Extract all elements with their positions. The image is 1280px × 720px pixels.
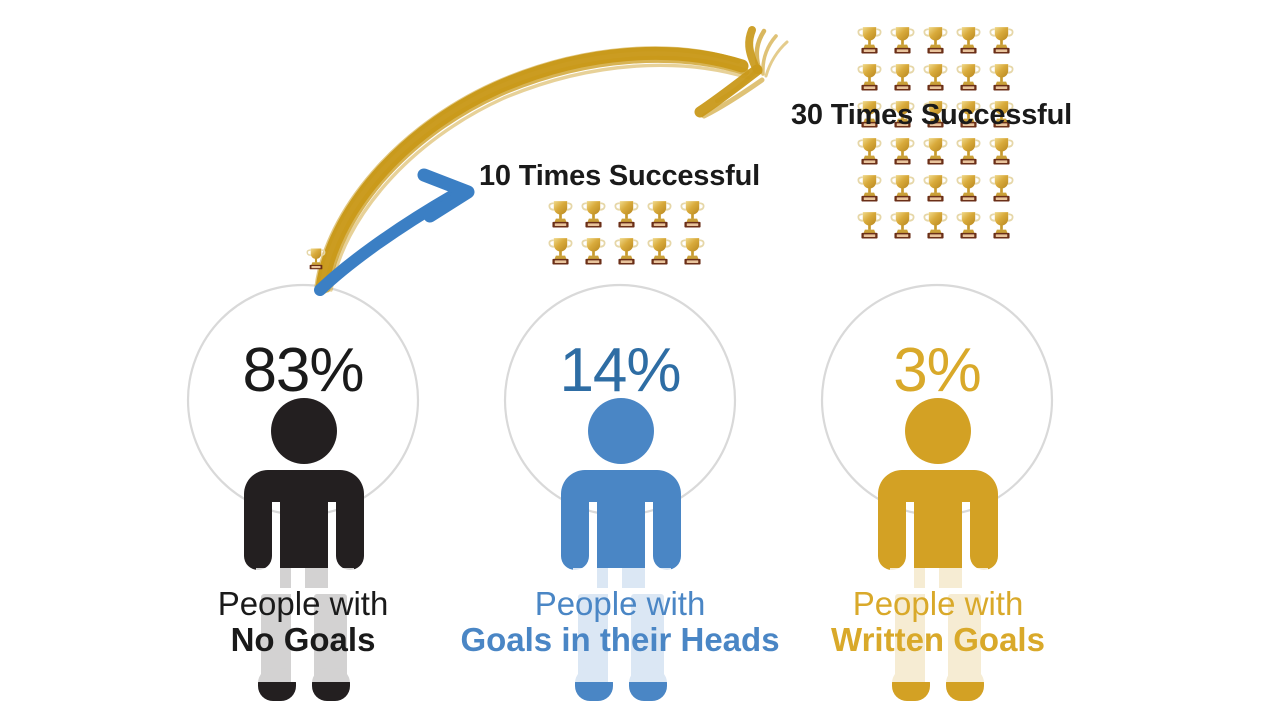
trophy-icon bbox=[610, 235, 643, 268]
trophy-icon bbox=[919, 61, 952, 94]
trophy-icon bbox=[952, 61, 985, 94]
trophy-icon bbox=[985, 209, 1018, 242]
ten-trophies-group bbox=[544, 198, 710, 268]
trophy-icon bbox=[886, 209, 919, 242]
caption-written-goals: People with Written Goals bbox=[738, 586, 1138, 657]
trophy-icon bbox=[676, 198, 709, 231]
trophy-icon bbox=[886, 172, 919, 205]
trophy-icon bbox=[853, 61, 886, 94]
percent-no-goals: 83% bbox=[203, 340, 403, 402]
trophy-icon bbox=[952, 209, 985, 242]
trophy-icon bbox=[952, 24, 985, 57]
trophy-icon bbox=[886, 135, 919, 168]
trophy-icon bbox=[544, 198, 577, 231]
trophy-icon bbox=[985, 172, 1018, 205]
percent-goals-in-heads: 14% bbox=[520, 340, 720, 402]
thirty-trophies-group bbox=[853, 24, 1019, 242]
trophy-icon bbox=[919, 209, 952, 242]
label-10-times-successful: 10 Times Successful bbox=[479, 160, 760, 193]
trophy-icon bbox=[303, 246, 329, 272]
trophy-icon bbox=[853, 172, 886, 205]
figure-written-goals bbox=[862, 398, 1014, 704]
caption-written-goals-line1: People with bbox=[738, 586, 1138, 622]
trophy-icon bbox=[577, 235, 610, 268]
trophy-icon bbox=[952, 172, 985, 205]
trophy-icon bbox=[853, 209, 886, 242]
trophy-icon bbox=[643, 198, 676, 231]
trophy-icon bbox=[610, 198, 643, 231]
trophy-icon bbox=[577, 198, 610, 231]
trophy-icon bbox=[919, 172, 952, 205]
trophy-icon bbox=[985, 135, 1018, 168]
trophy-icon bbox=[919, 24, 952, 57]
trophy-icon bbox=[643, 235, 676, 268]
figure-goals-in-heads bbox=[545, 398, 697, 704]
trophy-icon bbox=[985, 24, 1018, 57]
trophy-icon bbox=[676, 235, 709, 268]
trophy-icon bbox=[544, 235, 577, 268]
trophy-icon bbox=[985, 61, 1018, 94]
label-30-times-successful: 30 Times Successful bbox=[791, 99, 1072, 132]
trophy-icon bbox=[886, 61, 919, 94]
ten-trophies-group-single bbox=[303, 246, 329, 272]
caption-written-goals-line2: Written Goals bbox=[738, 622, 1138, 658]
figure-no-goals bbox=[228, 398, 380, 704]
trophy-icon bbox=[952, 135, 985, 168]
trophy-icon bbox=[886, 24, 919, 57]
percent-written-goals: 3% bbox=[837, 340, 1037, 402]
trophy-icon bbox=[919, 135, 952, 168]
trophy-icon bbox=[853, 24, 886, 57]
infographic-canvas: 10 Times Successful 30 Times Successful … bbox=[0, 0, 1280, 720]
trophy-icon bbox=[853, 135, 886, 168]
